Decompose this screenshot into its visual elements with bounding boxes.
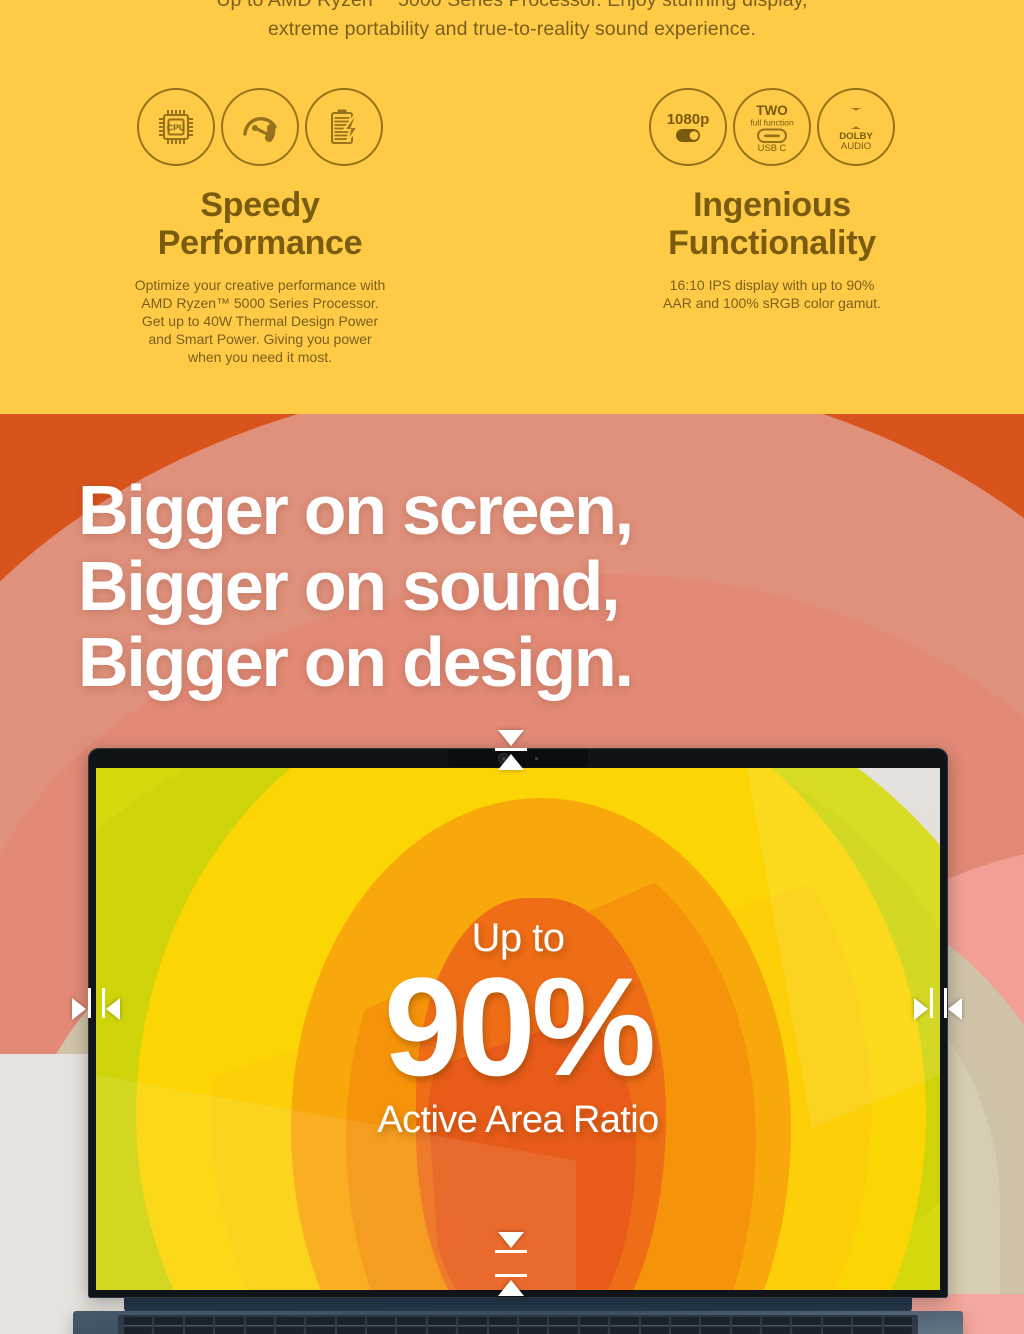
desc-line: AMD Ryzen™ 5000 Series Processor. xyxy=(0,294,520,312)
dolby-audio-icon: DOLBY AUDIO xyxy=(817,88,895,166)
desc-line: Optimize your creative performance with xyxy=(0,276,520,294)
headline-line-1: Bigger on screen, xyxy=(78,472,632,548)
feature-columns: CPU xyxy=(0,88,1024,366)
webcam-indicator-dot-icon xyxy=(535,757,538,760)
headline-line-3: Bigger on design. xyxy=(78,624,632,700)
features-section: Up to AMD Ryzen™ 5000 Series Processor. … xyxy=(0,0,1024,414)
feature-title-ingenious-functionality: Ingenious Functionality xyxy=(520,186,1024,262)
headline-line-2: Bigger on sound, xyxy=(78,548,632,624)
feature-icon-row-performance: CPU xyxy=(0,88,520,166)
laptop-lid: Up to 90% Active Area Ratio xyxy=(88,748,948,1298)
product-marketing-page: Up to AMD Ryzen™ 5000 Series Processor. … xyxy=(0,0,1024,1334)
laptop-base xyxy=(88,1298,948,1334)
webcam-resolution-label: 1080p xyxy=(667,111,710,128)
screen-metric-label: Active Area Ratio xyxy=(377,1099,658,1141)
feature-card-ingenious-functionality: 1080p TWO full function USB C xyxy=(520,88,1024,366)
feature-title-speedy-performance: Speedy Performance xyxy=(0,186,520,262)
feature-title-line-1: Speedy xyxy=(0,186,520,224)
usb-function-label: full function xyxy=(750,118,794,128)
hero-headline: Bigger on screen, Bigger on sound, Bigge… xyxy=(78,472,632,700)
battery-fast-charge-icon xyxy=(305,88,383,166)
keyboard-row xyxy=(124,1317,912,1325)
intro-line-2: extreme portability and true-to-reality … xyxy=(0,15,1024,44)
desc-line: and Smart Power. Giving you power xyxy=(0,330,520,348)
feature-title-line-1: Ingenious xyxy=(520,186,1024,224)
usb-c-label: USB C xyxy=(758,142,787,153)
feature-description-functionality: 16:10 IPS display with up to 90% AAR and… xyxy=(520,276,1024,312)
desc-line: 16:10 IPS display with up to 90% xyxy=(520,276,1024,294)
laptop-deck xyxy=(73,1311,963,1334)
laptop-keyboard xyxy=(118,1315,918,1334)
desc-line: AAR and 100% sRGB color gamut. xyxy=(520,294,1024,312)
laptop-screen: Up to 90% Active Area Ratio xyxy=(96,768,940,1290)
screen-percentage: 90% xyxy=(384,957,652,1097)
feature-description-performance: Optimize your creative performance with … xyxy=(0,276,520,366)
cpu-icon: CPU xyxy=(137,88,215,166)
svg-text:CPU: CPU xyxy=(167,123,185,133)
feature-icon-row-functionality: 1080p TWO full function USB C xyxy=(520,88,1024,166)
webcam-1080p-icon: 1080p xyxy=(649,88,727,166)
feature-card-speedy-performance: CPU xyxy=(0,88,520,366)
intro-copy: Up to AMD Ryzen™ 5000 Series Processor. … xyxy=(0,0,1024,44)
audio-label: AUDIO xyxy=(841,141,871,151)
desc-line: when you need it most. xyxy=(0,348,520,366)
usb-count-label: TWO xyxy=(756,103,788,118)
keyboard-row xyxy=(124,1327,912,1334)
desc-line: Get up to 40W Thermal Design Power xyxy=(0,312,520,330)
hero-section: Bigger on screen, Bigger on sound, Bigge… xyxy=(0,414,1024,1334)
screen-overlay-text: Up to 90% Active Area Ratio xyxy=(96,768,940,1290)
feature-title-line-2: Functionality xyxy=(520,224,1024,262)
feature-title-line-2: Performance xyxy=(0,224,520,262)
laptop-hinge xyxy=(124,1298,912,1312)
intro-line-1: Up to AMD Ryzen™ 5000 Series Processor. … xyxy=(0,0,1024,15)
usb-c-icon: TWO full function USB C xyxy=(733,88,811,166)
speedometer-icon xyxy=(221,88,299,166)
